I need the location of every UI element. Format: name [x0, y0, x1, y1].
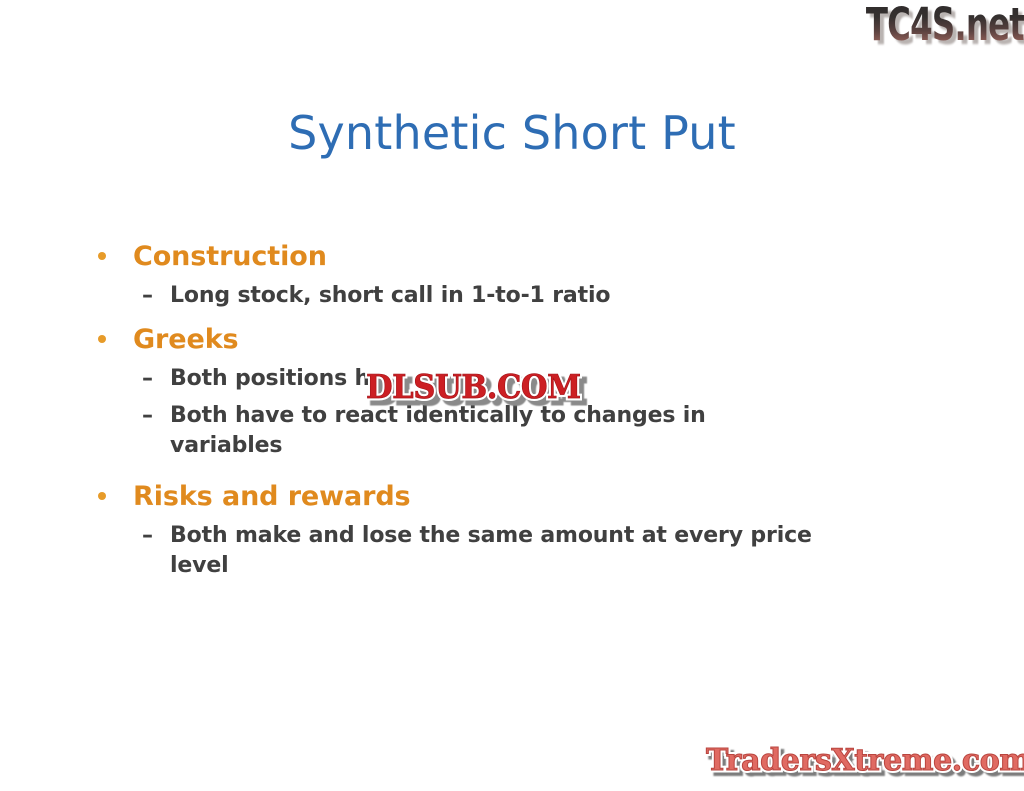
- spacer: [92, 311, 812, 323]
- bullet-level1-label: Greeks: [133, 324, 239, 355]
- bullet-level2-same-amount-every-price-level: – Both make and lose the same amount at …: [92, 521, 812, 581]
- dash-marker-icon: –: [142, 401, 153, 431]
- dash-marker-icon: –: [142, 281, 153, 311]
- dlsub-watermark: DLSUB.COM DLSUB.COM DLSUB.COM: [366, 368, 670, 408]
- spacer: [92, 274, 812, 281]
- tc4s-site-logo[interactable]: TC4S.net TC4S.net: [826, 0, 1024, 52]
- bullet-level2-long-stock-short-call: – Long stock, short call in 1-to-1 ratio: [92, 281, 812, 311]
- dash-marker-icon: –: [142, 521, 153, 551]
- dash-marker-icon: –: [142, 364, 153, 394]
- tradersxtreme-brand-logo[interactable]: TradersXtreme.com TradersXtreme.com Trad…: [706, 742, 1018, 786]
- bullet-level1-greeks: Greeks: [92, 323, 812, 357]
- bullet-dot-icon: [98, 335, 106, 343]
- spacer: [92, 461, 812, 480]
- bullet-level1-risks-and-rewards: Risks and rewards: [92, 480, 812, 514]
- slide-title: Synthetic Short Put: [112, 104, 912, 162]
- tc4s-logo-text: TC4S.net: [866, 0, 1024, 50]
- bullet-level2-label: Both make and lose the same amount at ev…: [170, 523, 812, 578]
- bullet-level1-label: Risks and rewards: [133, 481, 411, 512]
- bullet-level2-label: Both have to react identically to change…: [170, 403, 706, 458]
- bullet-level2-label: Both positions h: [170, 366, 370, 391]
- bullet-dot-icon: [98, 492, 106, 500]
- watermark-text: DLSUB.COM: [366, 368, 649, 406]
- slide-canvas: TC4S.net TC4S.net Synthetic Short Put Co…: [0, 0, 1024, 791]
- bullet-level2-label: Long stock, short call in 1-to-1 ratio: [170, 283, 610, 308]
- spacer: [92, 514, 812, 521]
- bullet-level1-construction: Construction: [92, 240, 812, 274]
- bullet-dot-icon: [98, 252, 106, 260]
- brand-logo-text: TradersXtreme.com: [706, 742, 1018, 780]
- bullet-level1-label: Construction: [133, 241, 327, 272]
- spacer: [92, 357, 812, 364]
